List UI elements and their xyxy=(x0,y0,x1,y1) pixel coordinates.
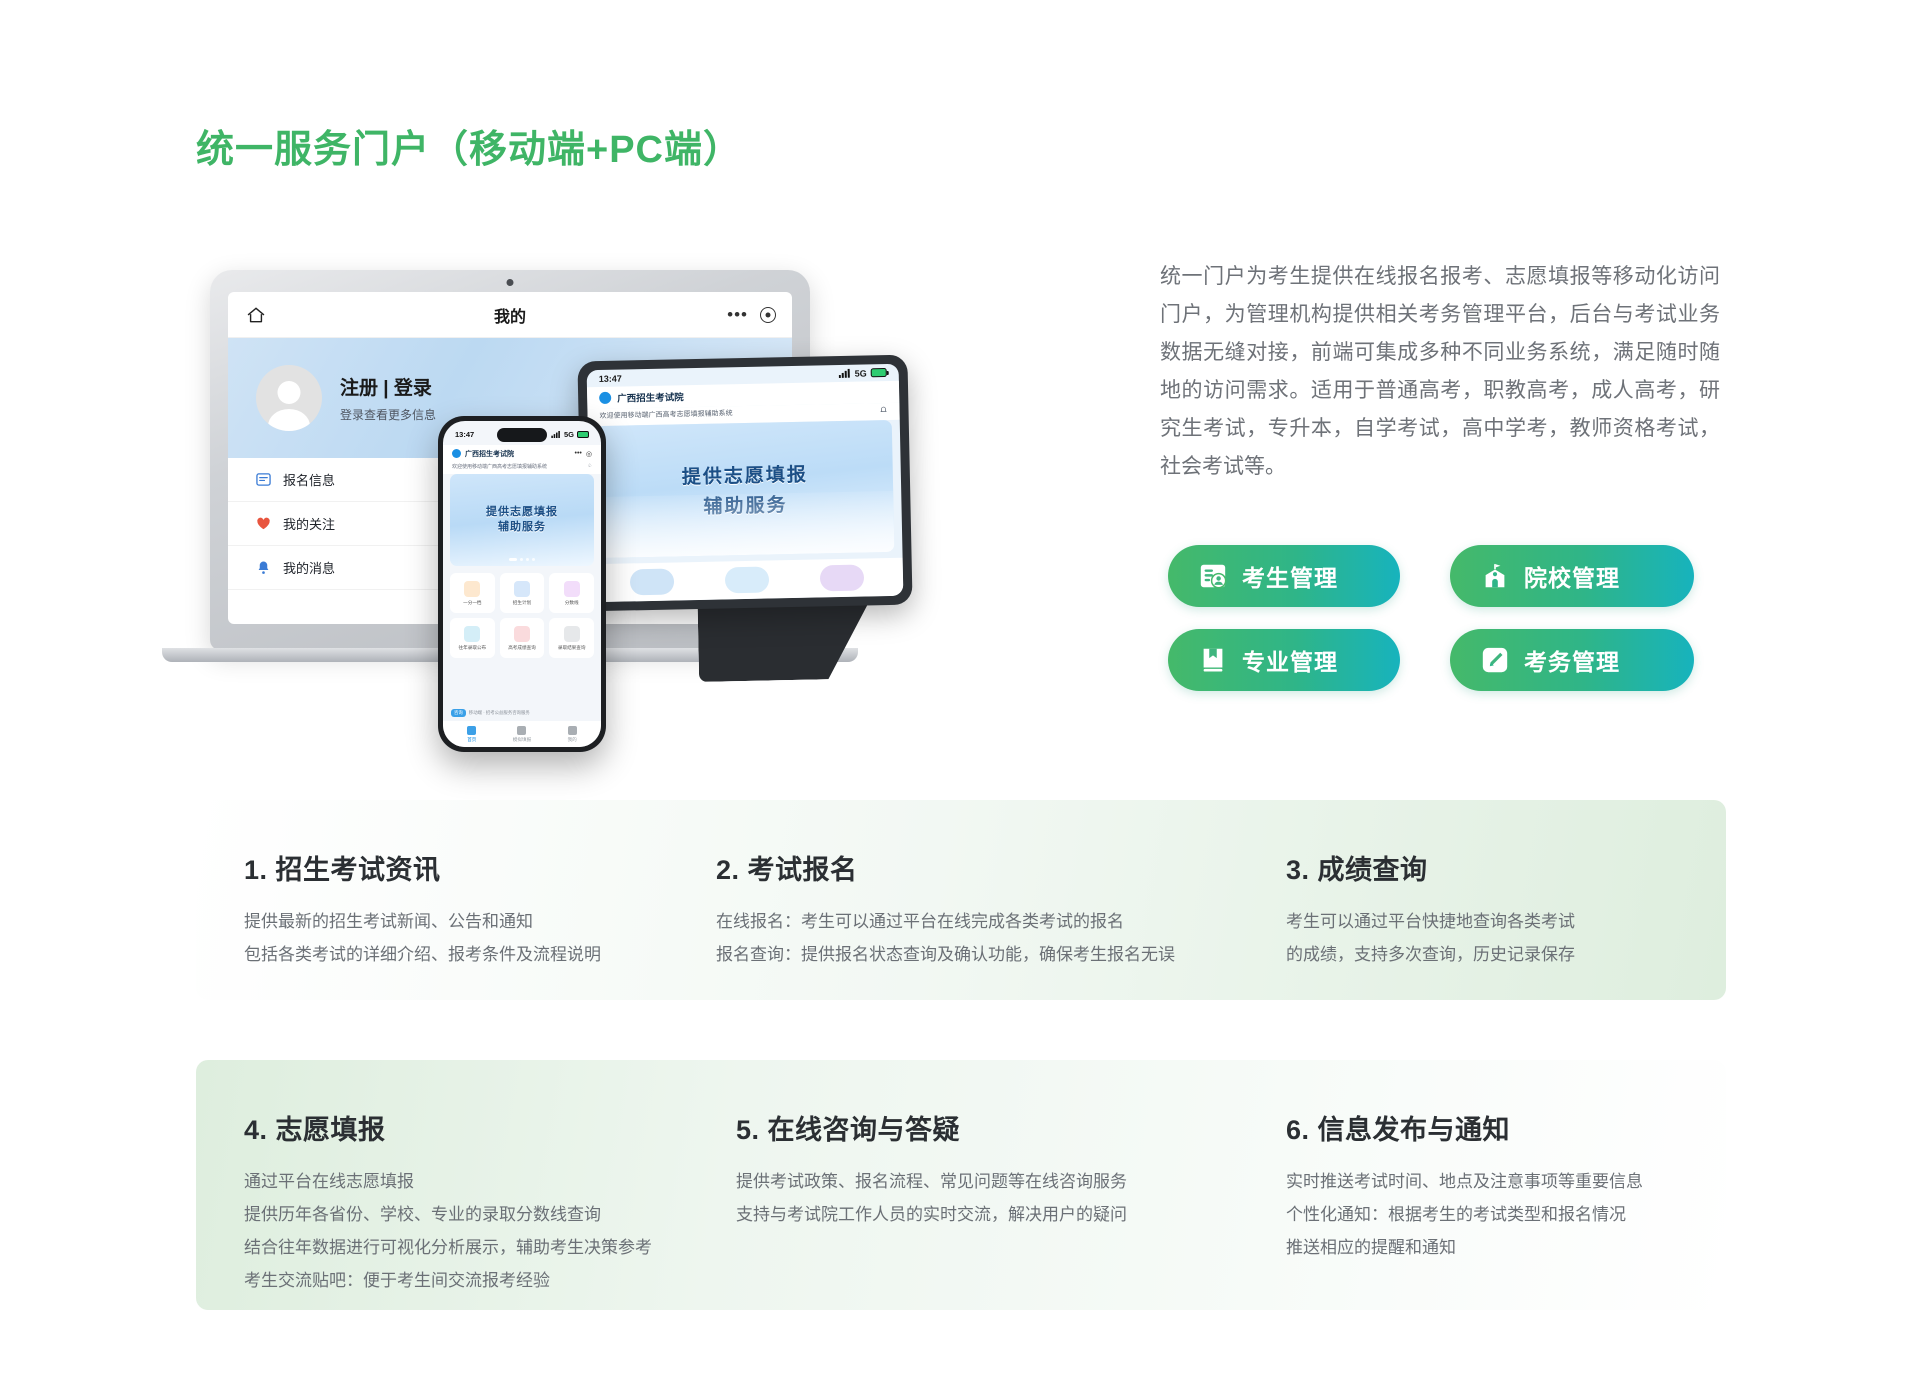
menu-item-label: 我的关注 xyxy=(283,514,335,533)
menu-item-label: 报名信息 xyxy=(283,470,335,489)
quick-entry-item[interactable]: 招生计划 xyxy=(500,573,545,613)
feature-card-line: 包括各类考试的详细介绍、报考条件及流程说明 xyxy=(244,938,601,971)
tab-label: 模拟填报 xyxy=(513,737,531,743)
dynamic-island xyxy=(497,428,547,442)
graduation-cap-icon xyxy=(514,581,530,597)
phone-mockup: 13:47 5G 广西招生考试院 xyxy=(438,416,606,752)
phone-footer-chip: 咨询 xyxy=(451,709,466,717)
feature-card-1: 1. 招生考试资讯 提供最新的招生考试新闻、公告和通知 包括各类考试的详细介绍、… xyxy=(244,848,601,971)
feature-card-line: 支持与考试院工作人员的实时交流，解决用户的疑问 xyxy=(736,1198,1127,1231)
clipboard-icon xyxy=(517,726,526,735)
webcam-icon xyxy=(507,279,514,286)
feature-card-line: 通过平台在线志愿填报 xyxy=(244,1165,652,1198)
app-logo-icon xyxy=(599,392,611,404)
feature-card-line: 考生可以通过平台快捷地查询各类考试 xyxy=(1286,905,1575,938)
book-icon xyxy=(1198,645,1228,675)
hero-illustration xyxy=(597,491,894,558)
feature-card-2: 2. 考试报名 在线报名：考生可以通过平台在线完成各类考试的报名 报名查询：提供… xyxy=(716,848,1175,971)
feature-card-line: 提供最新的招生考试新闻、公告和通知 xyxy=(244,905,601,938)
carousel-dots[interactable] xyxy=(509,558,535,561)
feature-card-group-top: 1. 招生考试资讯 提供最新的招生考试新闻、公告和通知 包括各类考试的详细介绍、… xyxy=(196,800,1726,1000)
pill-exam-affairs-management[interactable]: 考务管理 xyxy=(1450,629,1694,691)
pill-label: 院校管理 xyxy=(1524,559,1620,593)
home-icon xyxy=(467,726,476,735)
feature-card-6: 6. 信息发布与通知 实时推送考试时间、地点及注意事项等重要信息 个性化通知：根… xyxy=(1286,1108,1643,1264)
laptop-app-topbar: 我的 ••• xyxy=(228,292,792,338)
app-logo-icon xyxy=(452,449,461,458)
tablet-welcome-text: 欢迎使用移动端广西高考志愿填报辅助系统 xyxy=(599,408,732,421)
phone-body: 13:47 5G 广西招生考试院 xyxy=(438,416,606,752)
signal-icon xyxy=(551,431,561,438)
login-hint: 登录查看更多信息 xyxy=(340,406,436,423)
page-title: 统一服务门户（移动端+PC端） xyxy=(196,118,742,173)
phone-network-label: 5G xyxy=(564,430,574,439)
phone-welcome-text: 欢迎使用移动端广西高考志愿填报辅助系统 xyxy=(452,463,547,470)
battery-icon xyxy=(871,368,887,377)
form-icon xyxy=(256,472,271,487)
target-icon[interactable]: ◎ xyxy=(586,450,592,458)
tablet-tile[interactable] xyxy=(630,569,675,596)
poster-page: 统一服务门户（移动端+PC端） 我的 ••• xyxy=(0,0,1920,1392)
quick-entry-label: 录取结果查询 xyxy=(558,645,586,651)
quick-entry-item[interactable]: 一分一档 xyxy=(450,573,495,613)
feature-card-heading: 1. 招生考试资讯 xyxy=(244,848,601,887)
quick-entry-label: 招生计划 xyxy=(513,600,531,606)
register-login-link[interactable]: 注册 | 登录 xyxy=(340,373,436,400)
feature-card-line: 报名查询：提供报名状态查询及确认功能，确保考生报名无误 xyxy=(716,938,1175,971)
tablet-hero-banner[interactable]: 提供志愿填报 辅助服务 xyxy=(596,420,895,558)
target-icon[interactable] xyxy=(760,307,776,323)
feature-card-line: 推送相应的提醒和通知 xyxy=(1286,1231,1643,1264)
feature-card-4: 4. 志愿填报 通过平台在线志愿填报 提供历年各省份、学校、专业的录取分数线查询… xyxy=(244,1108,652,1297)
result-icon xyxy=(514,626,530,642)
laptop-nav-title: 我的 xyxy=(228,303,792,327)
phone-hero-line2: 辅助服务 xyxy=(498,520,546,535)
feature-card-line: 考生交流贴吧：便于考生间交流报考经验 xyxy=(244,1264,652,1297)
signal-icon xyxy=(839,369,851,378)
quick-entry-label: 往年录取公布 xyxy=(459,645,487,651)
pill-label: 考务管理 xyxy=(1524,643,1620,677)
quick-entry-label: 一分一档 xyxy=(463,600,481,606)
phone-hero-banner[interactable]: 提供志愿填报 辅助服务 xyxy=(450,474,594,566)
phone-app-name: 广西招生考试院 xyxy=(465,449,514,459)
tablet-body: 13:47 5G 广西招生考试院 xyxy=(577,355,912,612)
tablet-network-label: 5G xyxy=(855,368,867,378)
feature-card-group-bottom: 4. 志愿填报 通过平台在线志愿填报 提供历年各省份、学校、专业的录取分数线查询… xyxy=(196,1060,1726,1310)
management-pill-group: 考生管理 院校管理 专业管理 xyxy=(1168,545,1728,691)
quick-entry-label: 高考成绩查询 xyxy=(508,645,536,651)
quick-entry-label: 分数线 xyxy=(565,600,579,606)
feature-card-line: 提供考试政策、报名流程、常见问题等在线咨询服务 xyxy=(736,1165,1127,1198)
tablet-screen: 13:47 5G 广西招生考试院 xyxy=(587,364,904,602)
pill-label: 考生管理 xyxy=(1242,559,1338,593)
bell-icon[interactable]: ♤ xyxy=(588,463,592,470)
tab-mock-fill[interactable]: 模拟填报 xyxy=(513,726,531,743)
phone-clock: 13:47 xyxy=(455,430,474,439)
phone-footer-text: 移动端 · 招考公益服务咨询服务 xyxy=(469,710,530,716)
tab-label: 首页 xyxy=(467,737,476,743)
quick-entry-item[interactable]: 高考成绩查询 xyxy=(500,618,545,658)
mail-icon xyxy=(564,626,580,642)
heart-icon xyxy=(256,516,271,531)
portal-description: 统一门户为考生提供在线报名报考、志愿填报等移动化访问门户，为管理机构提供相关考务… xyxy=(1160,258,1720,486)
feature-card-5: 5. 在线咨询与答疑 提供考试政策、报名流程、常见问题等在线咨询服务 支持与考试… xyxy=(736,1108,1127,1231)
tab-mine[interactable]: 我的 xyxy=(568,726,577,743)
tablet-hero-line1: 提供志愿填报 xyxy=(682,459,809,489)
feature-card-line: 提供历年各省份、学校、专业的录取分数线查询 xyxy=(244,1198,652,1231)
pill-candidate-management[interactable]: 考生管理 xyxy=(1168,545,1400,607)
bar-chart-icon xyxy=(464,581,480,597)
feature-card-heading: 2. 考试报名 xyxy=(716,848,1175,887)
feature-card-line: 个性化通知：根据考生的考试类型和报名情况 xyxy=(1286,1198,1643,1231)
archive-icon xyxy=(464,626,480,642)
quick-entry-item[interactable]: 往年录取公布 xyxy=(450,618,495,658)
user-icon xyxy=(568,726,577,735)
tab-home[interactable]: 首页 xyxy=(467,726,476,743)
tablet-quick-tiles xyxy=(591,558,904,603)
feature-card-line: 结合往年数据进行可视化分析展示，辅助考生决策参考 xyxy=(244,1231,652,1264)
score-icon xyxy=(564,581,580,597)
bell-icon xyxy=(256,560,271,575)
phone-welcome-bar: 欢迎使用移动端广西高考志愿填报辅助系统 ♤ xyxy=(443,462,601,474)
feature-card-heading: 3. 成绩查询 xyxy=(1286,848,1575,887)
phone-tab-bar: 首页 模拟填报 我的 xyxy=(443,721,601,747)
tablet-tile[interactable] xyxy=(725,567,770,594)
feature-card-heading: 5. 在线咨询与答疑 xyxy=(736,1108,1127,1147)
feature-card-line: 的成绩，支持多次查询，历史记录保存 xyxy=(1286,938,1575,971)
menu-item-label: 我的消息 xyxy=(283,558,335,577)
avatar xyxy=(256,365,322,431)
tablet-tile[interactable] xyxy=(819,565,864,592)
phone-screen: 13:47 5G 广西招生考试院 xyxy=(443,421,601,747)
device-mockup-group: 我的 ••• 注册 | 登录 登录查看更多信息 xyxy=(150,250,1150,730)
bell-icon[interactable] xyxy=(879,406,887,414)
tab-label: 我的 xyxy=(568,737,577,743)
pill-institution-management[interactable]: 院校管理 xyxy=(1450,545,1694,607)
pill-major-management[interactable]: 专业管理 xyxy=(1168,629,1400,691)
quick-entry-item[interactable]: 录取结果查询 xyxy=(549,618,594,658)
phone-app-header: 广西招生考试院 ••• ◎ xyxy=(443,445,601,462)
feature-card-heading: 4. 志愿填报 xyxy=(244,1108,652,1147)
tablet-app-name: 广西招生考试院 xyxy=(617,389,684,404)
tablet-clock: 13:47 xyxy=(599,373,622,383)
quick-entry-item[interactable]: 分数线 xyxy=(549,573,594,613)
more-dots-icon[interactable]: ••• xyxy=(727,305,748,325)
edit-square-icon xyxy=(1480,645,1510,675)
pill-label: 专业管理 xyxy=(1242,643,1338,677)
id-card-icon xyxy=(1198,561,1228,591)
feature-card-line: 在线报名：考生可以通过平台在线完成各类考试的报名 xyxy=(716,905,1175,938)
feature-card-line: 实时推送考试时间、地点及注意事项等重要信息 xyxy=(1286,1165,1643,1198)
feature-card-3: 3. 成绩查询 考生可以通过平台快捷地查询各类考试 的成绩，支持多次查询，历史记… xyxy=(1286,848,1575,971)
phone-hero-line1: 提供志愿填报 xyxy=(486,505,558,520)
more-dots-icon[interactable]: ••• xyxy=(575,450,582,457)
phone-footer-note: 咨询 移动端 · 招考公益服务咨询服务 xyxy=(451,709,530,717)
battery-icon xyxy=(577,431,589,438)
tablet-mockup: 13:47 5G 广西招生考试院 xyxy=(580,358,910,668)
feature-card-heading: 6. 信息发布与通知 xyxy=(1286,1108,1643,1147)
school-icon xyxy=(1480,561,1510,591)
phone-quick-entry-grid: 一分一档 招生计划 分数线 往年录取公布 xyxy=(450,573,594,658)
